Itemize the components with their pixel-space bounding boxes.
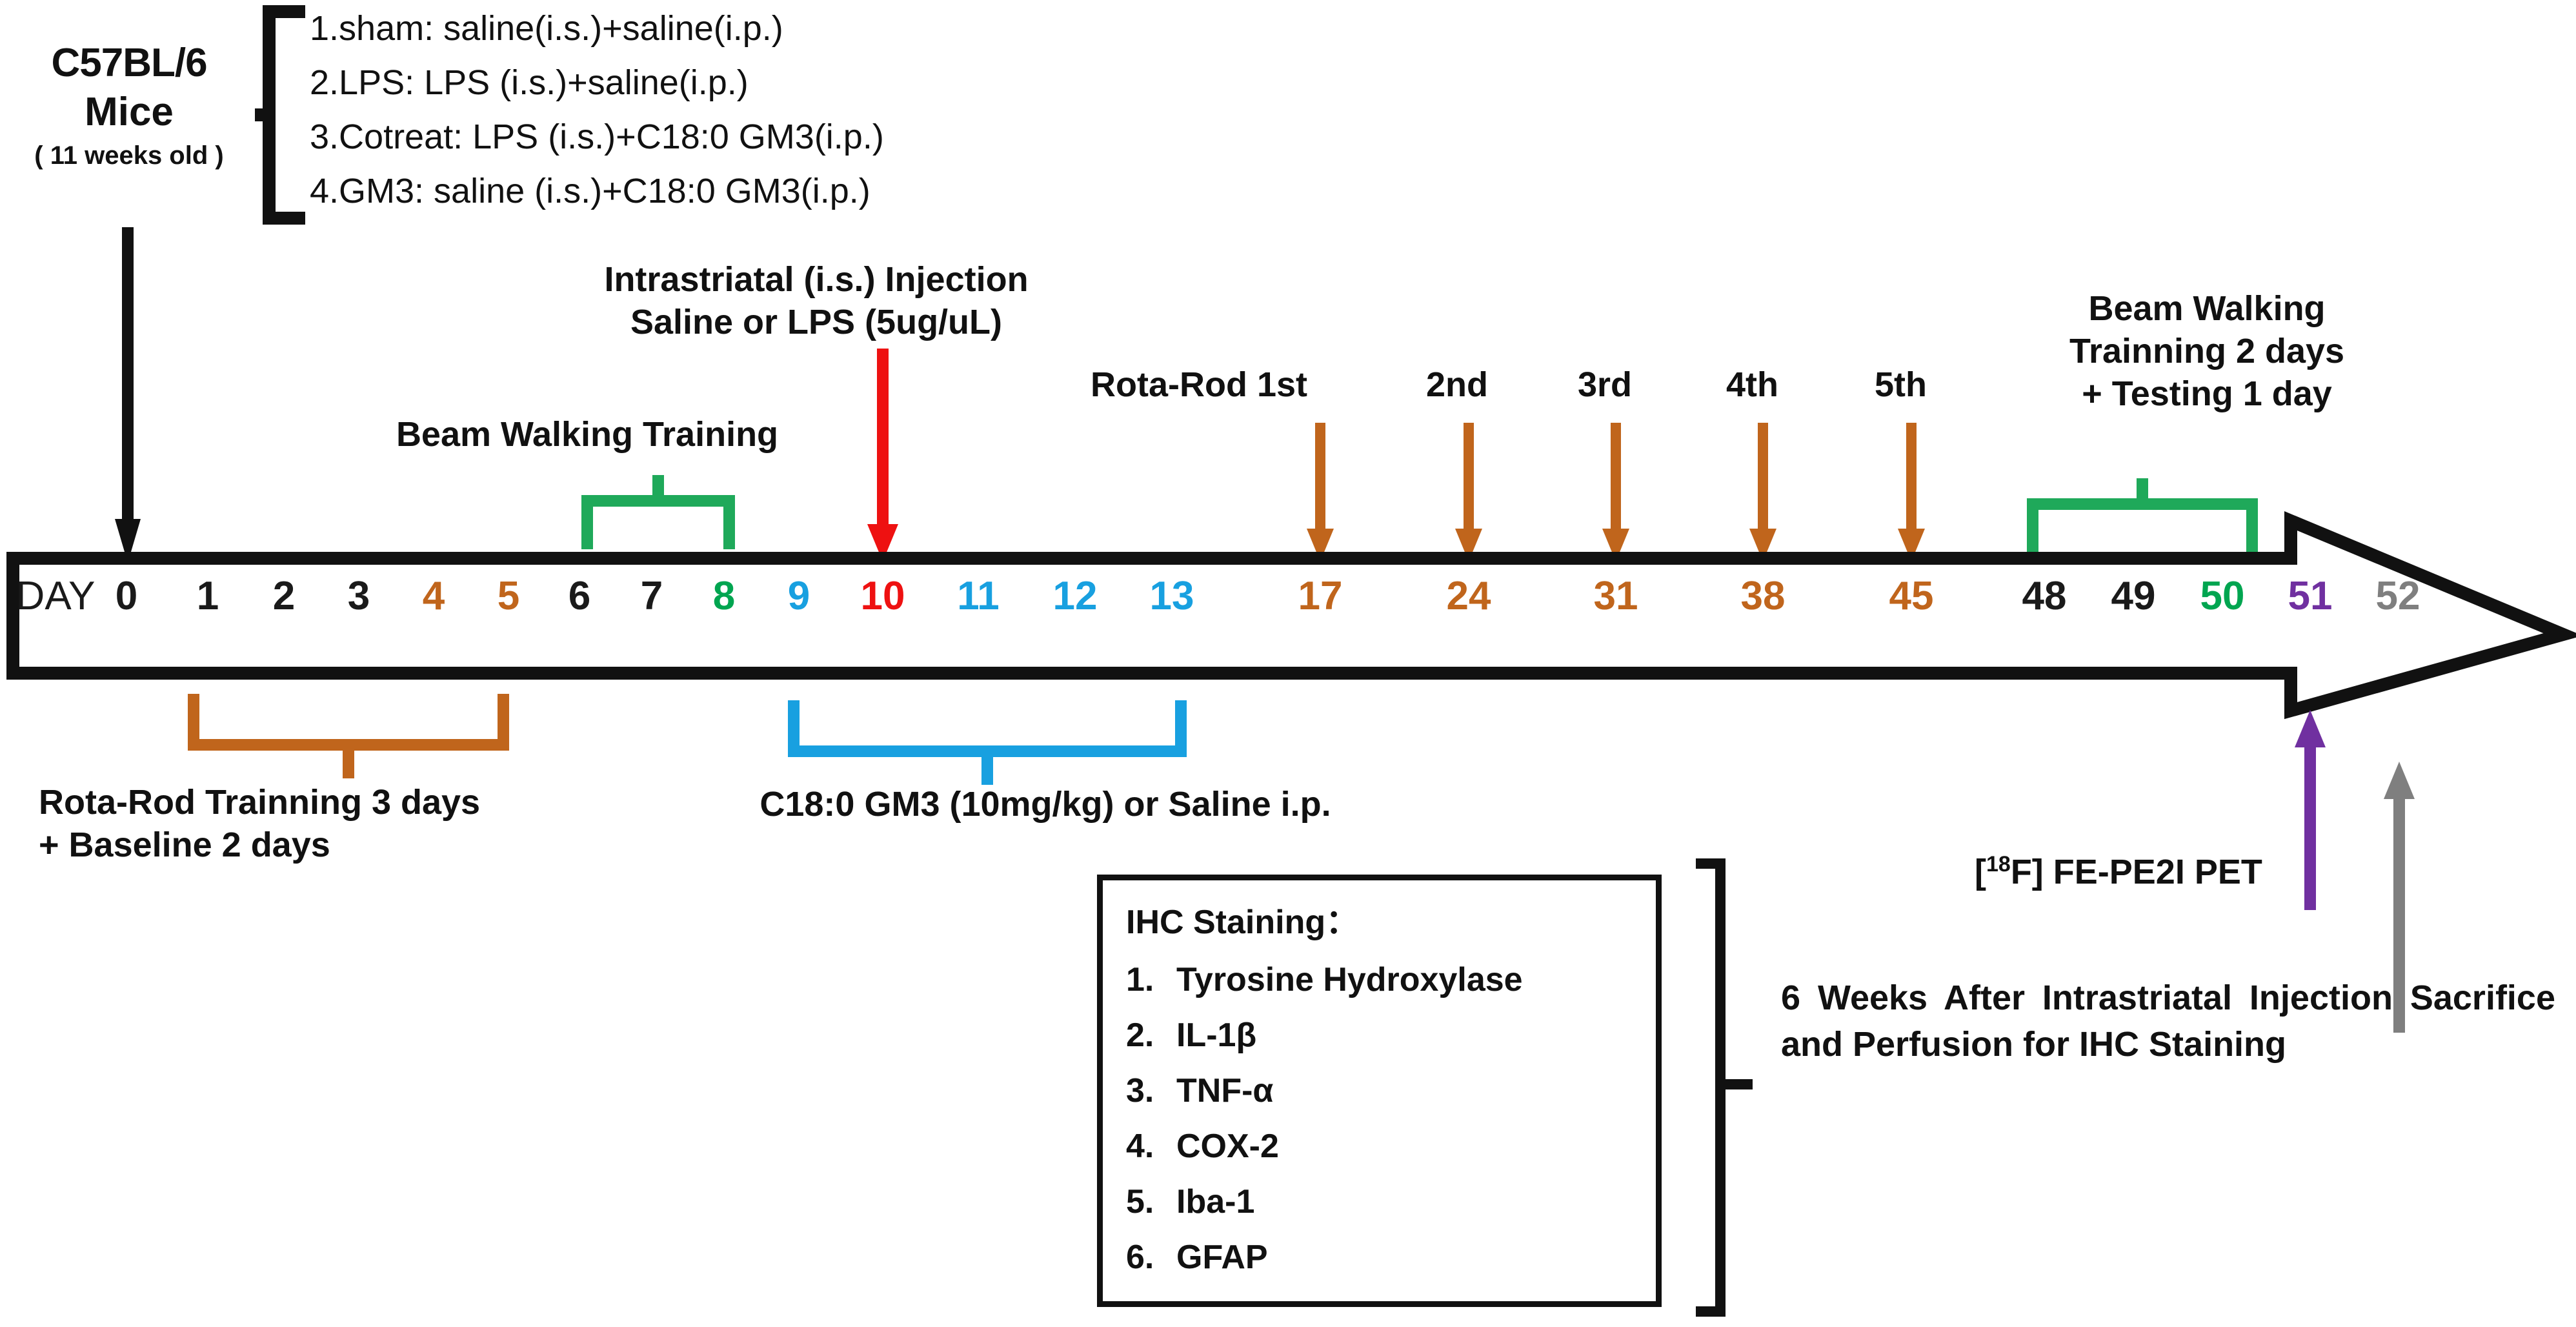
day-label-row: DAY 0 1 2 3 4 5 6 7 8 9 10 11 12 13 17 2… bbox=[0, 0, 2576, 165]
is-injection-line1: Intrastriatal (i.s.) Injection bbox=[545, 258, 1087, 301]
beam-walking-2-line3: + Testing 1 day bbox=[2000, 372, 2413, 415]
pet-suffix: F] FE-PE2I PET bbox=[2011, 853, 2262, 891]
rotarod-arrow-day38-icon bbox=[1747, 423, 1778, 562]
beam-walking-training-text: Beam Walking Training bbox=[396, 415, 778, 454]
gm3-dose-label: C18:0 GM3 (10mg/kg) or Saline i.p. bbox=[703, 784, 1387, 824]
beam-walking-2-line1: Beam Walking bbox=[2000, 287, 2413, 330]
pet-prefix: [ bbox=[1975, 853, 1986, 891]
list-item: 5. Iba-1 bbox=[1126, 1174, 1656, 1230]
day-tick-11: 11 bbox=[957, 576, 1000, 616]
rotarod-session-3-label: 3rd bbox=[1578, 365, 1632, 405]
day-tick-7: 7 bbox=[641, 576, 663, 616]
six-weeks-sacrifice-label: 6 Weeks After Intrastriatal Injection Sa… bbox=[1781, 975, 2555, 1068]
rotarod-arrow-day45-icon bbox=[1896, 423, 1927, 562]
ihc-connector-bracket-icon bbox=[1691, 858, 1768, 1317]
day-tick-45: 45 bbox=[1889, 576, 1934, 616]
day-tick-48: 48 bbox=[2022, 576, 2067, 616]
day-tick-50: 50 bbox=[2200, 576, 2245, 616]
list-item: 6. GFAP bbox=[1126, 1230, 1656, 1285]
rotarod-training-line2: + Baseline 2 days bbox=[39, 824, 619, 866]
day-tick-3: 3 bbox=[348, 576, 370, 616]
rotarod-session-2-label: 2nd bbox=[1426, 365, 1488, 405]
day-tick-13: 13 bbox=[1150, 576, 1194, 616]
day0-down-arrow-icon bbox=[115, 227, 141, 563]
ihc-item-number: 4. bbox=[1126, 1119, 1176, 1174]
ihc-box-title: IHC Staining： bbox=[1126, 895, 1656, 943]
rotarod-session-1-label: Rota-Rod 1st bbox=[1091, 365, 1307, 405]
day-tick-31: 31 bbox=[1594, 576, 1638, 616]
beam-walking-bracket-icon bbox=[581, 471, 736, 549]
day-tick-2: 2 bbox=[273, 576, 295, 616]
day-tick-12: 12 bbox=[1053, 576, 1098, 616]
day-tick-52: 52 bbox=[2376, 576, 2420, 616]
gm3-treatment-bracket-icon bbox=[787, 704, 1187, 787]
beam-walking-training-label: Beam Walking Training bbox=[348, 414, 826, 454]
rotarod-arrow-day24-icon bbox=[1453, 423, 1484, 562]
beam-walking-testing-label: Beam Walking Trainning 2 days + Testing … bbox=[2000, 287, 2413, 415]
ihc-item-number: 2. bbox=[1126, 1008, 1176, 1063]
list-item: 3. TNF-α bbox=[1126, 1063, 1656, 1119]
ihc-item-name: GFAP bbox=[1176, 1230, 1268, 1285]
ihc-item-number: 1. bbox=[1126, 952, 1176, 1008]
day-tick-51: 51 bbox=[2288, 576, 2333, 616]
is-injection-line2: Saline or LPS (5ug/uL) bbox=[545, 301, 1087, 343]
list-item: 4. COX-2 bbox=[1126, 1119, 1656, 1174]
rotarod-session-4-label: 4th bbox=[1726, 365, 1778, 405]
day-tick-9: 9 bbox=[788, 576, 810, 616]
pet-scan-purple-arrow-icon bbox=[2292, 710, 2328, 910]
day-tick-24: 24 bbox=[1447, 576, 1491, 616]
rotarod-session-5-label: 5th bbox=[1875, 365, 1927, 405]
ihc-item-number: 6. bbox=[1126, 1230, 1176, 1285]
day-tick-1: 1 bbox=[197, 576, 219, 616]
day-tick-10: 10 bbox=[861, 576, 905, 616]
intrastriatal-injection-label: Intrastriatal (i.s.) Injection Saline or… bbox=[545, 258, 1087, 343]
list-item: 1. Tyrosine Hydroxylase bbox=[1126, 952, 1656, 1008]
ihc-item-name: COX-2 bbox=[1176, 1119, 1279, 1174]
day-tick-5: 5 bbox=[498, 576, 519, 616]
day-tick-17: 17 bbox=[1298, 576, 1343, 616]
beam-walking-2-line2: Trainning 2 days bbox=[2000, 330, 2413, 372]
day-tick-8: 8 bbox=[713, 576, 735, 616]
ihc-staining-box: IHC Staining： 1. Tyrosine Hydroxylase 2.… bbox=[1097, 875, 1662, 1307]
ihc-item-name: TNF-α bbox=[1176, 1063, 1273, 1119]
day-tick-38: 38 bbox=[1741, 576, 1786, 616]
day-tick-0: 0 bbox=[116, 576, 137, 616]
ihc-item-list: 1. Tyrosine Hydroxylase 2. IL-1β 3. TNF-… bbox=[1126, 952, 1656, 1285]
timeline-bar bbox=[6, 552, 2570, 716]
rotarod-arrow-day31-icon bbox=[1600, 423, 1631, 562]
group-item: 4.GM3: saline (i.s.)+C18:0 GM3(i.p.) bbox=[310, 164, 884, 218]
ihc-item-name: Iba-1 bbox=[1176, 1174, 1254, 1230]
ihc-item-number: 3. bbox=[1126, 1063, 1176, 1119]
rotarod-session-labels: Rota-Rod 1st 2nd 3rd 4th 5th bbox=[1091, 365, 1962, 416]
ihc-item-name: IL-1β bbox=[1176, 1008, 1256, 1063]
list-item: 2. IL-1β bbox=[1126, 1008, 1656, 1063]
pet-isotope: 18 bbox=[1986, 852, 2011, 876]
beam-walking-testing-bracket-icon bbox=[2026, 474, 2259, 552]
pet-scan-label: [18F] FE-PE2I PET bbox=[1975, 852, 2262, 892]
rotarod-training-bracket-icon bbox=[187, 697, 510, 781]
rotarod-training-line1: Rota-Rod Trainning 3 days bbox=[39, 781, 619, 824]
day-word-label: DAY bbox=[16, 576, 96, 616]
day-tick-49: 49 bbox=[2111, 576, 2156, 616]
gm3-dose-text: C18:0 GM3 (10mg/kg) or Saline i.p. bbox=[760, 785, 1331, 824]
lps-injection-red-arrow-icon bbox=[863, 349, 902, 562]
ihc-item-name: Tyrosine Hydroxylase bbox=[1176, 952, 1523, 1008]
day-tick-6: 6 bbox=[569, 576, 590, 616]
rotarod-arrow-day17-icon bbox=[1305, 423, 1336, 562]
rotarod-training-label: Rota-Rod Trainning 3 days + Baseline 2 d… bbox=[39, 781, 619, 866]
day-tick-4: 4 bbox=[423, 576, 445, 616]
ihc-item-number: 5. bbox=[1126, 1174, 1176, 1230]
six-weeks-text: 6 Weeks After Intrastriatal Injection Sa… bbox=[1781, 978, 2555, 1064]
